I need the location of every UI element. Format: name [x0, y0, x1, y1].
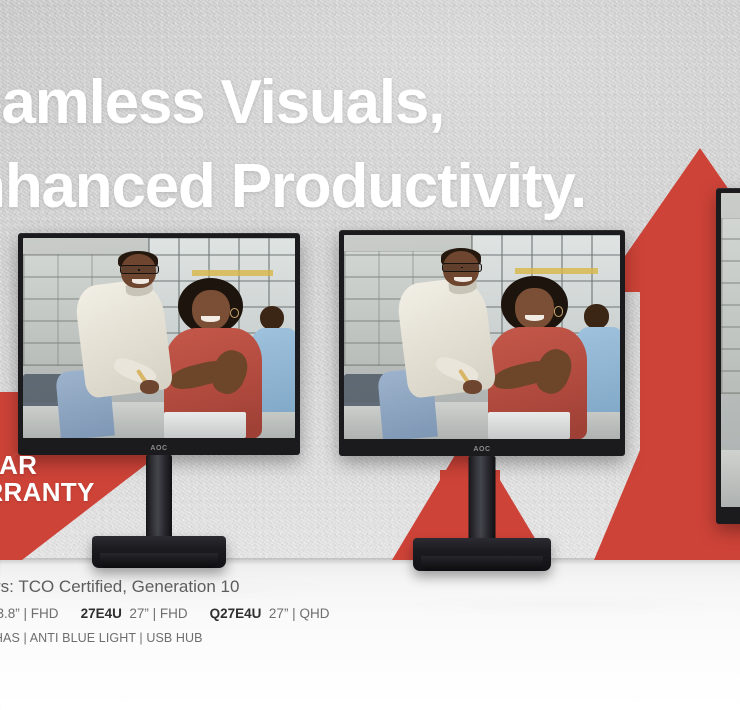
- spec-line-models: 24E4U 23.8” | FHD27E4U 27” | FHDQ27E4U 2…: [0, 605, 740, 624]
- monitor-center-screen: [344, 235, 620, 439]
- spec-model-2-detail: 27” | FHD: [129, 606, 187, 621]
- monitor-center-base: [413, 538, 551, 571]
- spec-line-certification: Monitors: TCO Certified, Generation 10: [0, 576, 740, 599]
- monitor-left-bezel: AOC: [18, 233, 300, 455]
- monitor-left-neck: [146, 455, 172, 541]
- screen-photo-office: [344, 235, 620, 439]
- screen-photo-office: [23, 238, 295, 438]
- aoc-logo-center: AOC: [473, 446, 490, 453]
- monitor-left-base: [92, 536, 226, 568]
- spec-model-3: Q27E4U: [210, 606, 262, 621]
- monitor-center[interactable]: AOC: [339, 230, 625, 456]
- monitor-right-bezel: AOC: [716, 188, 740, 524]
- spec-model-2: 27E4U: [81, 606, 122, 621]
- monitor-right-screen: [721, 193, 740, 507]
- monitor-center-bezel: AOC: [339, 230, 625, 456]
- aoc-logo-left: AOC: [150, 445, 167, 452]
- monitor-left-screen: [23, 238, 295, 438]
- monitor-left[interactable]: AOC: [18, 233, 300, 455]
- spec-block: Monitors: TCO Certified, Generation 10 2…: [0, 576, 740, 645]
- screen-photo-office: [721, 193, 740, 507]
- spec-model-1: 24E4U 23.8” | FHD: [0, 606, 59, 621]
- monitor-center-neck: [469, 456, 496, 544]
- product-banner: Seamless Visuals, Enhanced Productivity.: [0, 0, 740, 710]
- spec-model-3-detail: 27” | QHD: [269, 606, 330, 621]
- monitor-right[interactable]: AOC: [716, 188, 740, 524]
- spec-line-features: USB-C | HAS | ANTI BLUE LIGHT | USB HUB: [0, 631, 740, 645]
